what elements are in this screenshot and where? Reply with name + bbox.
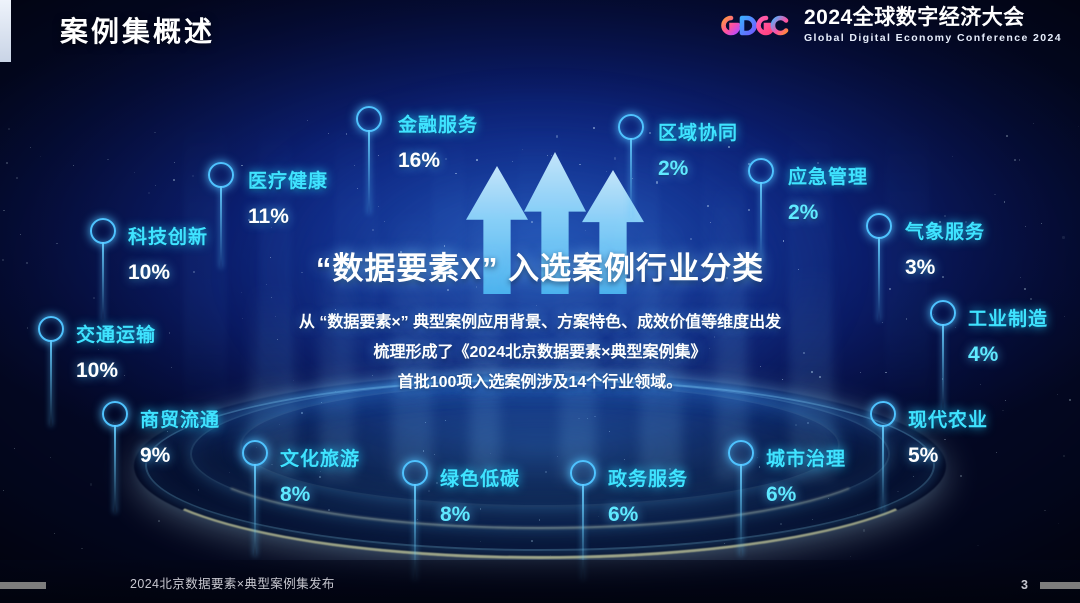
category-percent: 8% [440, 503, 520, 527]
category-percent: 10% [128, 261, 208, 285]
pin-ring-icon [930, 300, 956, 326]
category-label-1[interactable]: 医疗健康11% [248, 166, 328, 229]
pin-ring-icon [38, 316, 64, 342]
pin-ring-icon [748, 158, 774, 184]
category-name: 现代农业 [908, 405, 988, 432]
category-name: 绿色低碳 [440, 464, 520, 491]
pin-stem [102, 242, 104, 320]
category-name: 文化旅游 [280, 444, 360, 471]
category-label-6[interactable]: 绿色低碳8% [440, 464, 520, 527]
category-name: 城市治理 [766, 444, 846, 471]
category-percent: 2% [658, 157, 738, 181]
pin-stem [50, 340, 52, 426]
pin-stem [942, 324, 944, 410]
category-label-11[interactable]: 气象服务3% [905, 217, 985, 280]
slide-header: 案例集概述 [0, 0, 1080, 62]
footer-text: 2024北京数据要素×典型案例集发布 [130, 573, 335, 592]
chart-description-line-2: 首批100项入选案例涉及14个行业领域。 [0, 368, 1080, 398]
page-title: 案例集概述 [60, 10, 215, 50]
category-label-12[interactable]: 应急管理2% [788, 162, 868, 225]
conference-logo: 2024全球数字经济大会 Global Digital Economy Conf… [716, 7, 1062, 44]
category-percent: 4% [968, 343, 1048, 367]
category-label-8[interactable]: 城市治理6% [766, 444, 846, 507]
category-name: 应急管理 [788, 162, 868, 189]
logo-title-en: Global Digital Economy Conference 2024 [804, 33, 1062, 44]
pin-stem [254, 464, 256, 556]
pin-stem [630, 138, 632, 218]
pin-stem [878, 237, 880, 321]
pin-ring-icon [866, 213, 892, 239]
category-percent: 2% [788, 201, 868, 225]
slide-root: 金融服务16%医疗健康11%科技创新10%交通运输10%商贸流通9%文化旅游8%… [0, 0, 1080, 603]
pin-stem [114, 425, 116, 513]
category-percent: 9% [140, 444, 220, 468]
category-label-9[interactable]: 现代农业5% [908, 405, 988, 468]
category-label-10[interactable]: 工业制造4% [968, 304, 1048, 367]
chart-description: 从 “数据要素×” 典型案例应用背景、方案特色、成效价值等维度出发梳理形成了《2… [0, 308, 1080, 398]
category-label-13[interactable]: 区域协同2% [658, 118, 738, 181]
pin-ring-icon [242, 440, 268, 466]
pin-ring-icon [402, 460, 428, 486]
category-name: 政务服务 [608, 464, 688, 491]
pin-stem [368, 130, 370, 214]
category-percent: 10% [76, 359, 156, 383]
page-number: 3 [1021, 578, 1028, 592]
category-name: 商贸流通 [140, 405, 220, 432]
slide-footer: 2024北京数据要素×典型案例集发布 3 [0, 560, 1080, 603]
category-label-4[interactable]: 商贸流通9% [140, 405, 220, 468]
pin-stem [740, 464, 742, 556]
pin-ring-icon [356, 106, 382, 132]
category-name: 气象服务 [905, 217, 985, 244]
footer-bar-left [0, 582, 46, 589]
pin-ring-icon [870, 401, 896, 427]
category-percent: 6% [766, 483, 846, 507]
pin-ring-icon [728, 440, 754, 466]
category-percent: 3% [905, 256, 985, 280]
category-name: 交通运输 [76, 320, 156, 347]
pin-ring-icon [208, 162, 234, 188]
category-label-5[interactable]: 文化旅游8% [280, 444, 360, 507]
gdec-logo-icon [716, 10, 794, 40]
category-percent: 8% [280, 483, 360, 507]
chart-description-line-1: 梳理形成了《2024北京数据要素×典型案例集》 [0, 338, 1080, 368]
category-label-2[interactable]: 科技创新10% [128, 222, 208, 285]
category-name: 医疗健康 [248, 166, 328, 193]
category-percent: 6% [608, 503, 688, 527]
category-name: 金融服务 [398, 110, 478, 137]
pin-stem [220, 186, 222, 268]
pin-stem [882, 425, 884, 513]
pin-ring-icon [618, 114, 644, 140]
left-edge-strip [0, 0, 11, 62]
pin-ring-icon [570, 460, 596, 486]
category-label-7[interactable]: 政务服务6% [608, 464, 688, 527]
category-percent: 5% [908, 444, 988, 468]
pin-stem [760, 182, 762, 262]
category-percent: 11% [248, 205, 328, 229]
category-name: 工业制造 [968, 304, 1048, 331]
category-percent: 16% [398, 149, 478, 173]
logo-text-block: 2024全球数字经济大会 Global Digital Economy Conf… [804, 7, 1062, 44]
category-name: 科技创新 [128, 222, 208, 249]
category-label-0[interactable]: 金融服务16% [398, 110, 478, 173]
category-label-3[interactable]: 交通运输10% [76, 320, 156, 383]
footer-bar-right [1040, 582, 1080, 589]
vignette-overlay [0, 0, 1080, 603]
pin-ring-icon [102, 401, 128, 427]
pin-ring-icon [90, 218, 116, 244]
category-name: 区域协同 [658, 118, 738, 145]
chart-description-line-0: 从 “数据要素×” 典型案例应用背景、方案特色、成效价值等维度出发 [0, 308, 1080, 338]
logo-title-cn: 2024全球数字经济大会 [804, 7, 1062, 28]
